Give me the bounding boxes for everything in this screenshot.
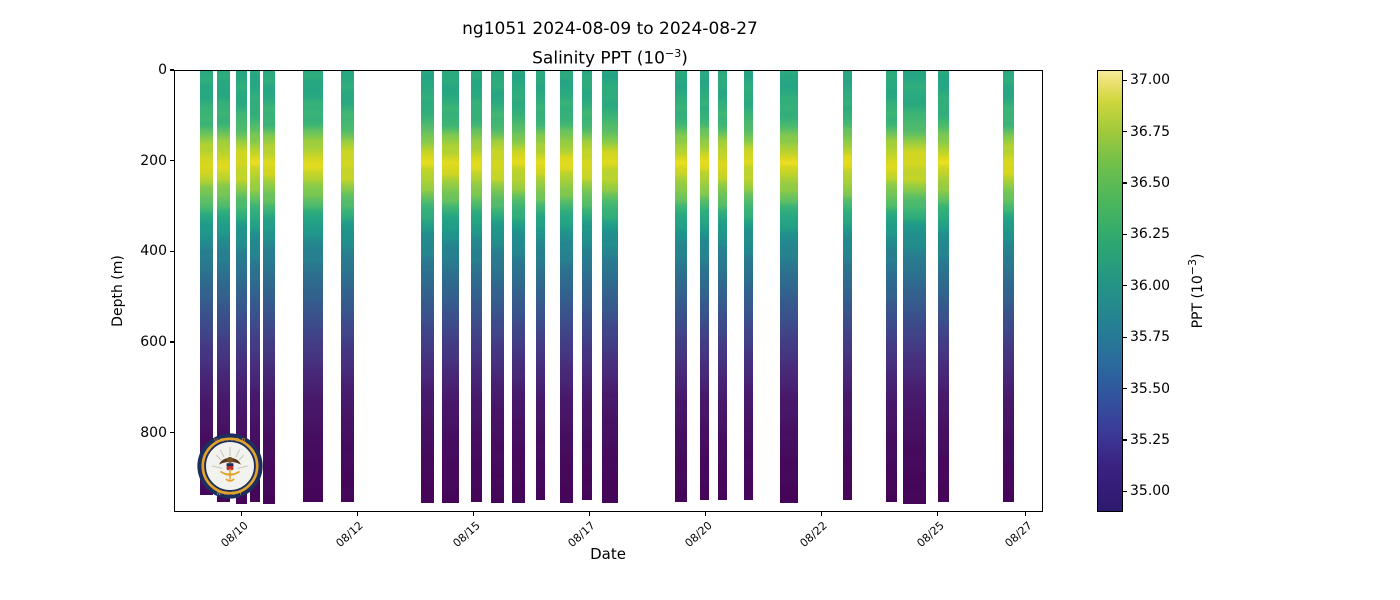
x-tick-mark	[473, 512, 474, 516]
y-tick-mark	[170, 341, 174, 342]
seal-text-bottom: N A V Y	[217, 491, 243, 497]
chart-title: ng1051 2024-08-09 to 2024-08-27	[0, 18, 1220, 41]
colorbar-tick-label: 36.25	[1130, 225, 1170, 243]
x-tick-mark	[821, 512, 822, 516]
subtitle-suffix: )	[681, 49, 688, 69]
plot-area	[174, 70, 1043, 512]
colorbar-tick-mark	[1123, 388, 1127, 389]
salinity-profile-column	[536, 71, 546, 500]
y-axis-ticks: 0200400600800	[0, 70, 174, 512]
subtitle-exponent: −3	[665, 47, 681, 60]
y-tick-mark	[170, 432, 174, 433]
colorbar-tick-label: 36.50	[1130, 174, 1170, 192]
colorbar-tick-mark	[1123, 234, 1127, 235]
x-tick-mark	[241, 512, 242, 516]
colorbar-gradient	[1097, 70, 1123, 512]
y-tick-mark	[170, 251, 174, 252]
y-tick-mark	[170, 69, 174, 70]
cbar-label-exponent: −3	[1186, 259, 1199, 275]
colorbar-tick-mark	[1123, 131, 1127, 132]
salinity-profile-column	[582, 71, 592, 500]
x-axis-ticks: 08/1008/1208/1508/1708/2008/2208/2508/27	[174, 512, 1043, 572]
subtitle-prefix: Salinity PPT (10	[532, 49, 665, 69]
cbar-label-prefix: PPT (10	[1190, 275, 1206, 328]
x-tick-label: 08/20	[682, 519, 714, 550]
salinity-profile-column	[341, 71, 354, 502]
x-tick-label: 08/22	[798, 519, 830, 550]
x-tick-mark	[357, 512, 358, 516]
colorbar-tick-label: 35.00	[1130, 482, 1170, 500]
y-tick-mark	[170, 160, 174, 161]
colorbar-tick-label: 37.00	[1130, 71, 1170, 89]
colorbar-tick-label: 35.25	[1130, 431, 1170, 449]
salinity-profile-column	[263, 71, 274, 504]
salinity-profile-column	[442, 71, 459, 503]
salinity-profile-column	[718, 71, 728, 500]
salinity-profile-column	[675, 71, 686, 502]
salinity-profile-column	[886, 71, 897, 502]
x-tick-mark	[1025, 512, 1026, 516]
colorbar-tick-mark	[1123, 337, 1127, 338]
y-tick-label: 600	[140, 333, 167, 351]
y-axis-label: Depth (m)	[110, 255, 126, 327]
x-tick-mark	[589, 512, 590, 516]
salinity-profile-column	[602, 71, 618, 503]
salinity-profile-column	[843, 71, 853, 500]
chart-subtitle: Salinity PPT (10−3)	[0, 41, 1220, 72]
colorbar-tick-mark	[1123, 182, 1127, 183]
colorbar-label: PPT (10−3)	[1186, 254, 1206, 329]
x-tick-label: 08/25	[914, 519, 946, 550]
colorbar-tick-mark	[1123, 491, 1127, 492]
chart-title-block: ng1051 2024-08-09 to 2024-08-27 Salinity…	[0, 18, 1220, 72]
salinity-profile-column	[491, 71, 504, 503]
profile-columns-container	[175, 71, 1042, 511]
us-navy-seal-logo: U N I T E D N A V Y	[196, 432, 264, 500]
colorbar-tick-mark	[1123, 439, 1127, 440]
y-tick-label: 800	[140, 424, 167, 442]
x-tick-label: 08/10	[218, 519, 250, 550]
y-tick-label: 200	[140, 152, 167, 170]
seal-text-top: U N I T E D	[214, 438, 246, 444]
x-tick-label: 08/15	[450, 519, 482, 550]
x-tick-mark	[937, 512, 938, 516]
x-tick-label: 08/12	[334, 519, 366, 550]
cbar-label-suffix: )	[1190, 254, 1206, 259]
x-tick-mark	[705, 512, 706, 516]
salinity-profile-column	[471, 71, 482, 502]
salinity-profile-column	[744, 71, 754, 500]
colorbar-tick-mark	[1123, 80, 1127, 81]
colorbar-tick-label: 35.75	[1130, 328, 1170, 346]
y-tick-label: 0	[158, 61, 167, 79]
salinity-profile-column	[421, 71, 434, 503]
y-tick-label: 400	[140, 242, 167, 260]
colorbar-tick-label: 36.00	[1130, 277, 1170, 295]
colorbar-tick-label: 36.75	[1130, 123, 1170, 141]
salinity-profile-column	[1003, 71, 1014, 502]
colorbar-tick-mark	[1123, 285, 1127, 286]
x-tick-label: 08/27	[1002, 519, 1034, 550]
salinity-profile-column	[512, 71, 525, 503]
salinity-profile-column	[303, 71, 323, 502]
salinity-profile-column	[560, 71, 573, 503]
salinity-profile-column	[938, 71, 949, 502]
colorbar-tick-label: 35.50	[1130, 380, 1170, 398]
x-axis-label: Date	[590, 545, 626, 563]
salinity-profile-column	[903, 71, 926, 504]
salinity-profile-column	[780, 71, 798, 503]
salinity-profile-column	[700, 71, 710, 500]
